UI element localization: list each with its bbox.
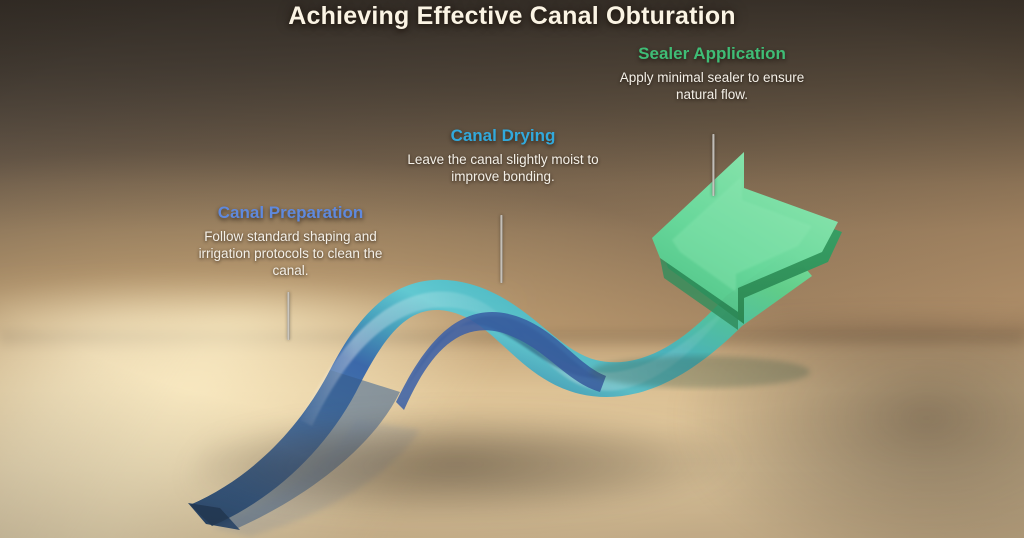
- infographic-scene: Achieving Effective Canal Obturation Can…: [0, 0, 1024, 538]
- background-vignette: [0, 0, 1024, 538]
